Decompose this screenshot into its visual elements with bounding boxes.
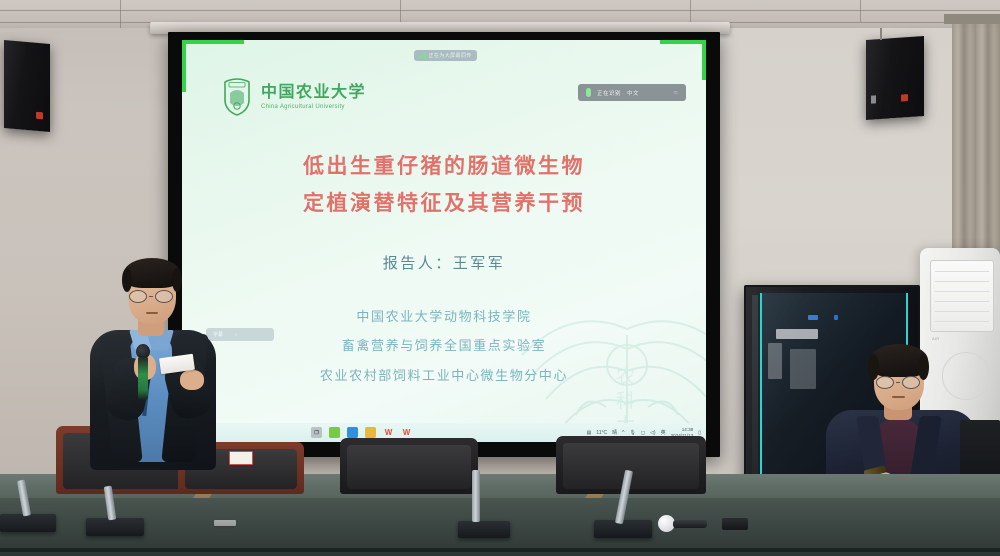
wall-speaker-right bbox=[866, 36, 924, 120]
conference-room-scene: 农科大 中国农业大学 China Agricultural University bbox=[0, 0, 1000, 556]
wps-writer-icon[interactable]: W bbox=[383, 427, 394, 438]
chair[interactable] bbox=[556, 436, 706, 494]
microphone-tray-icon[interactable]: 🎙 bbox=[630, 430, 636, 436]
affiliation-line-1: 中国农业大学动物科技学院 bbox=[182, 302, 706, 331]
university-name-en: China Agricultural University bbox=[261, 104, 366, 110]
table-lip bbox=[0, 548, 1000, 552]
slide-title-line-2: 定植演替特征及其营养干预 bbox=[182, 185, 706, 222]
attendee-mouth bbox=[892, 396, 905, 398]
gooseneck-microphone-stem bbox=[472, 470, 480, 522]
microphone-body bbox=[673, 520, 707, 528]
rack-equipment-panel bbox=[790, 349, 816, 389]
chair[interactable] bbox=[340, 438, 478, 494]
sound-wave-icon: ≈ bbox=[674, 88, 678, 97]
weather-icon[interactable]: ▤ bbox=[587, 430, 592, 436]
weather-temp[interactable]: 11°C bbox=[596, 430, 607, 436]
presenter-glasses-icon bbox=[129, 290, 173, 303]
rack-status-led bbox=[808, 315, 818, 320]
chevron-up-icon[interactable]: ^ bbox=[622, 430, 624, 436]
university-name-cn: 中国农业大学 bbox=[261, 85, 366, 101]
caption-badge-text: 正在为大屏幕同传 bbox=[429, 52, 472, 59]
presentation-slide: 农科大 中国农业大学 China Agricultural University bbox=[182, 40, 706, 442]
presenter-hair-side bbox=[172, 268, 182, 292]
recognition-language-label: 中文 bbox=[627, 89, 639, 97]
university-logo: 中国农业大学 China Agricultural University bbox=[222, 78, 366, 116]
rack-equipment-panel bbox=[768, 343, 782, 379]
folder-icon[interactable] bbox=[365, 427, 376, 438]
projection-screen: 农科大 中国农业大学 China Agricultural University bbox=[168, 32, 720, 457]
slide-title: 低出生重仔猪的肠道微生物 定植演替特征及其营养干预 bbox=[182, 148, 706, 222]
attendee-glasses-icon bbox=[876, 376, 920, 389]
window-curtain bbox=[952, 20, 1000, 270]
input-method-icon[interactable]: 英 bbox=[661, 429, 666, 436]
university-shield-icon bbox=[222, 78, 252, 116]
recognition-status-text: 正在识别 bbox=[597, 89, 621, 97]
volume-icon[interactable]: ◁) bbox=[650, 430, 656, 436]
slide-presenter-line: 报告人：王军军 bbox=[182, 252, 706, 273]
speaker-logo-icon bbox=[36, 112, 43, 120]
taskbar-app-list[interactable]: ❐ W W bbox=[311, 427, 412, 438]
presenter-hand-card bbox=[180, 370, 204, 390]
affiliation-line-3: 农业农村部饲料工业中心微生物分中心 bbox=[182, 361, 706, 390]
slide-affiliations: 中国农业大学动物科技学院 畜禽营养与饲养全国重点实验室 农业农村部饲料工业中心微… bbox=[182, 302, 706, 390]
microphone-icon bbox=[586, 88, 591, 97]
gooseneck-microphone-2[interactable] bbox=[86, 518, 144, 536]
paper-documents bbox=[214, 520, 236, 526]
rack-side-panel bbox=[752, 295, 758, 485]
presenter bbox=[84, 252, 234, 477]
slide-accent-corner bbox=[182, 40, 186, 92]
signal-bars-icon bbox=[419, 52, 426, 59]
handheld-microphone-on-table[interactable] bbox=[658, 514, 714, 534]
rack-equipment-panel bbox=[776, 329, 818, 339]
speaker-logo-icon bbox=[901, 94, 908, 101]
slide-accent-corner bbox=[702, 40, 706, 80]
presenter-hair-side bbox=[122, 268, 132, 292]
task-view-icon[interactable]: ❐ bbox=[311, 427, 322, 438]
slide-title-line-1: 低出生重仔猪的肠道微生物 bbox=[182, 148, 706, 185]
presenter-mouth bbox=[146, 312, 158, 314]
wall-speaker-left bbox=[4, 40, 50, 132]
green-app-icon[interactable] bbox=[329, 427, 340, 438]
rack-status-led bbox=[834, 315, 838, 320]
chevron-right-icon: › bbox=[235, 332, 237, 338]
notification-icon[interactable]: ▯ bbox=[698, 430, 701, 436]
slide-accent-corner bbox=[182, 40, 244, 44]
curtain-rail bbox=[944, 14, 1000, 24]
ac-vent bbox=[930, 260, 994, 332]
weather-label[interactable]: 晴 bbox=[612, 429, 617, 436]
remote-control[interactable] bbox=[722, 518, 748, 530]
blue-store-icon[interactable] bbox=[347, 427, 358, 438]
slide-accent-corner bbox=[660, 40, 706, 44]
network-icon[interactable]: ◻ bbox=[641, 430, 645, 436]
gooseneck-microphone-1[interactable] bbox=[0, 514, 56, 532]
caption-status-badge[interactable]: 正在为大屏幕同传 bbox=[414, 50, 477, 61]
speaker-bracket bbox=[880, 28, 882, 40]
svg-text:科: 科 bbox=[616, 390, 635, 412]
handheld-microphone-body bbox=[138, 356, 148, 400]
speech-recognition-bar[interactable]: 正在识别 中文 ≈ bbox=[578, 84, 686, 101]
gooseneck-microphone-3[interactable] bbox=[458, 521, 510, 538]
wps-presentation-icon[interactable]: W bbox=[401, 427, 412, 438]
